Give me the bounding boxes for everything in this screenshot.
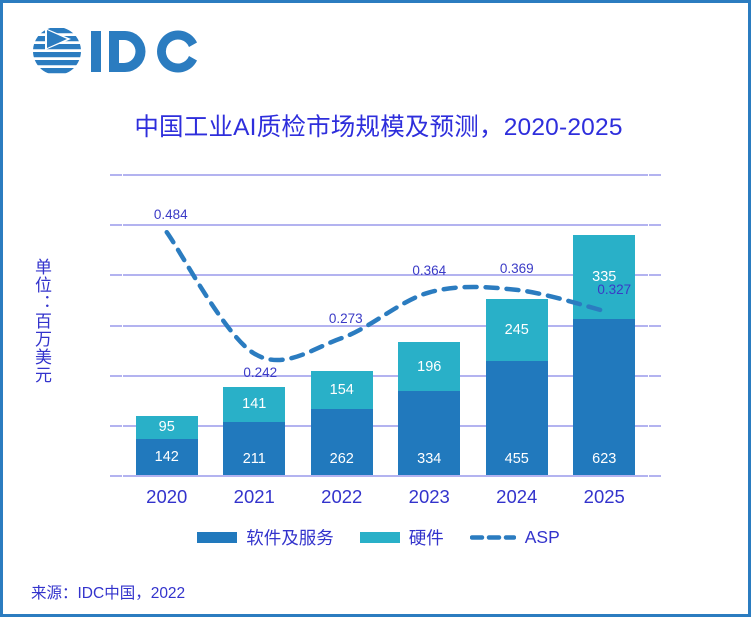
chart-legend: 软件及服务硬件ASP bbox=[3, 525, 751, 550]
asp-data-label: 0.369 bbox=[500, 261, 534, 276]
y-axis-tick bbox=[110, 274, 122, 276]
y-axis-tick bbox=[110, 325, 122, 327]
x-axis-tick-label: 2022 bbox=[305, 486, 379, 508]
legend-color-swatch bbox=[360, 532, 400, 543]
chart-page: 中国工业AI质检市场规模及预测，2020-2025 单位：百万美元 00%200… bbox=[0, 0, 751, 617]
y2-axis-tick bbox=[649, 174, 661, 176]
y2-axis-tick bbox=[649, 274, 661, 276]
idc-logo bbox=[31, 23, 201, 79]
legend-label: 软件及服务 bbox=[246, 525, 334, 550]
y2-axis-tick bbox=[649, 425, 661, 427]
legend-label: 硬件 bbox=[409, 525, 444, 550]
x-axis-tick-label: 2024 bbox=[480, 486, 554, 508]
gridline bbox=[123, 475, 648, 477]
asp-data-label: 0.364 bbox=[412, 263, 446, 278]
y-axis-title: 单位：百万美元 bbox=[29, 258, 54, 384]
x-axis-tick-label: 2021 bbox=[217, 486, 291, 508]
asp-line-series bbox=[123, 174, 648, 475]
y-axis-tick bbox=[110, 375, 122, 377]
source-note: 来源：IDC中国，2022 bbox=[31, 581, 185, 603]
x-axis-tick-label: 2023 bbox=[392, 486, 466, 508]
page-title: 中国工业AI质检市场规模及预测，2020-2025 bbox=[3, 108, 751, 143]
asp-data-label: 0.484 bbox=[154, 207, 188, 222]
idc-wordmark bbox=[91, 30, 197, 72]
legend-item[interactable]: ASP bbox=[470, 527, 560, 548]
plot-area: 00%20010%40020%60030%80040%100050%120060… bbox=[123, 174, 648, 475]
x-axis-tick-label: 2025 bbox=[567, 486, 641, 508]
legend-color-swatch bbox=[197, 532, 237, 543]
legend-item[interactable]: 软件及服务 bbox=[197, 525, 334, 550]
y-axis-tick bbox=[110, 425, 122, 427]
asp-data-label: 0.273 bbox=[329, 311, 363, 326]
asp-data-label: 0.327 bbox=[597, 282, 631, 297]
y2-axis-tick bbox=[649, 224, 661, 226]
y2-axis-tick bbox=[649, 475, 661, 477]
legend-dashed-line-icon bbox=[470, 532, 516, 543]
x-axis-tick-label: 2020 bbox=[130, 486, 204, 508]
asp-data-label: 0.242 bbox=[243, 365, 277, 380]
y-axis-tick bbox=[110, 224, 122, 226]
legend-label: ASP bbox=[525, 527, 560, 548]
legend-item[interactable]: 硬件 bbox=[360, 525, 444, 550]
y-axis-tick bbox=[110, 174, 122, 176]
y-axis-tick bbox=[110, 475, 122, 477]
asp-dashed-path bbox=[167, 232, 605, 360]
y2-axis-tick bbox=[649, 325, 661, 327]
y2-axis-tick bbox=[649, 375, 661, 377]
idc-logo-icon bbox=[31, 25, 201, 77]
